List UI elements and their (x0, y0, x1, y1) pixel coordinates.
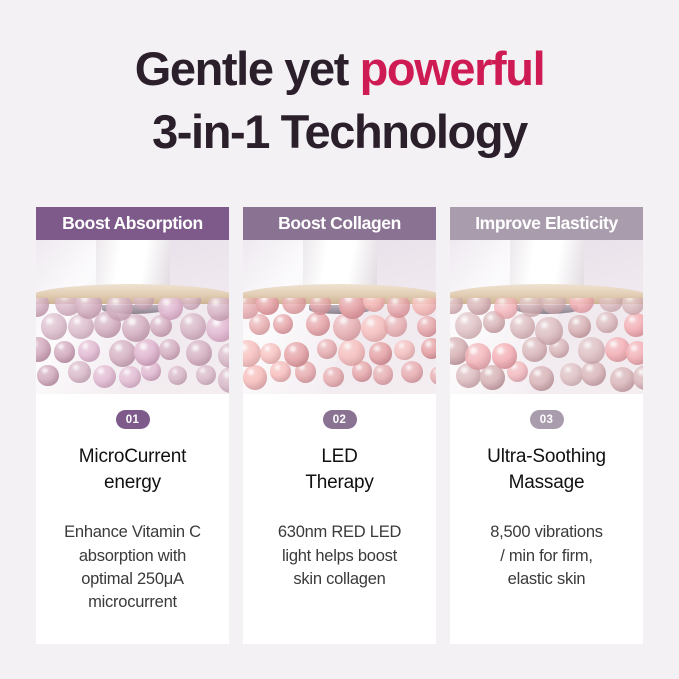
card-title: LED Therapy (305, 444, 373, 496)
card-figure-microcurrent (36, 240, 229, 394)
feature-card: Boost Collagen 02 LED Therapy 630nm RED … (243, 207, 436, 644)
step-badge-02: 02 (323, 410, 357, 429)
headline-accent-text: powerful (360, 42, 545, 95)
card-description: 8,500 vibrations / min for firm, elastic… (490, 521, 603, 591)
headline-line1: Gentle yet powerful (135, 42, 545, 95)
feature-card: Improve Elasticity 03 Ultra-Soothing Mas… (450, 207, 643, 644)
dermis-sphere-field (243, 298, 436, 394)
card-body: 02 LED Therapy 630nm RED LED light helps… (243, 394, 436, 644)
feature-card-list: Boost Absorption 01 MicroCurrent energy … (36, 207, 644, 644)
headline-plain-text: Gentle yet (135, 42, 360, 95)
card-body: 03 Ultra-Soothing Massage 8,500 vibratio… (450, 394, 643, 644)
card-title: MicroCurrent energy (79, 444, 186, 496)
card-description: 630nm RED LED light helps boost skin col… (278, 521, 401, 591)
card-header-boost-collagen: Boost Collagen (243, 207, 436, 240)
card-header-improve-elasticity: Improve Elasticity (450, 207, 643, 240)
step-badge-01: 01 (116, 410, 150, 429)
headline-line2: 3-in-1 Technology (0, 101, 679, 164)
dermis-sphere-field (450, 298, 643, 394)
card-header-boost-absorption: Boost Absorption (36, 207, 229, 240)
card-description: Enhance Vitamin C absorption with optima… (64, 521, 201, 614)
dermis-sphere-field (36, 298, 229, 394)
step-badge-03: 03 (530, 410, 564, 429)
card-title: Ultra-Soothing Massage (487, 444, 606, 496)
card-figure-massage (450, 240, 643, 394)
card-body: 01 MicroCurrent energy Enhance Vitamin C… (36, 394, 229, 644)
feature-card: Boost Absorption 01 MicroCurrent energy … (36, 207, 229, 644)
page-title: Gentle yet powerful 3-in-1 Technology (0, 38, 679, 163)
card-figure-led-therapy (243, 240, 436, 394)
